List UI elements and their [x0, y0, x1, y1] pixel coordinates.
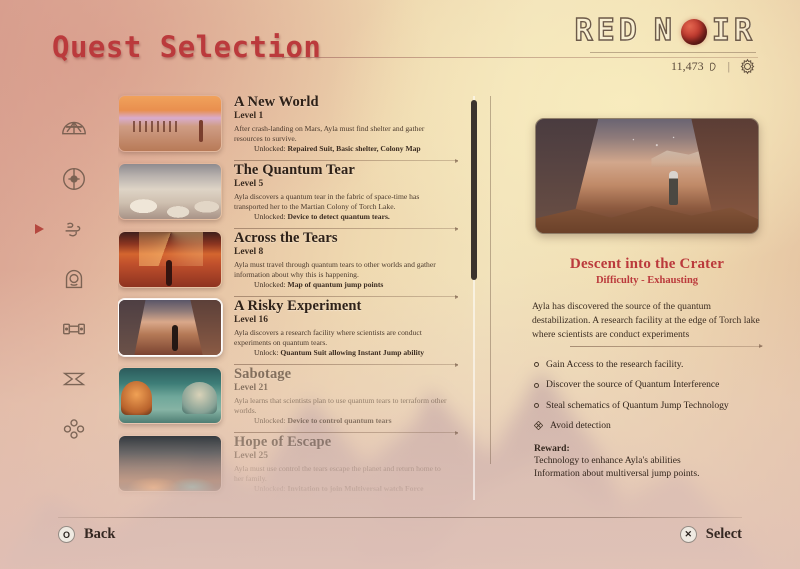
quest-level: Level 25 — [234, 451, 452, 461]
quest-unlock: Unlocked: Invitation to join Multiversal… — [234, 484, 452, 493]
quest-description: Ayla must travel through quantum tears t… — [234, 260, 452, 279]
objective-text: Gain Access to the research facility. — [546, 359, 683, 371]
quest-preview-image — [535, 118, 759, 234]
quest-unlock-label: Unlocked: — [254, 144, 286, 153]
quest-list-item[interactable]: Across the Tears Level 8 Ayla must trave… — [118, 228, 458, 296]
quest-level: Level 16 — [234, 315, 452, 325]
quest-unlock: Unlock: Quantum Suit allowing Instant Ju… — [234, 348, 452, 357]
game-logo: RED N IR — [575, 16, 756, 46]
detail-description: Ayla has discovered the source of the qu… — [520, 300, 774, 342]
quest-title: Hope of Escape — [234, 435, 452, 450]
select-button-label: Select — [706, 526, 742, 543]
quest-description: Ayla discovers a quantum tear in the fab… — [234, 192, 452, 211]
sidebar-item-hourglass[interactable] — [45, 354, 103, 404]
quest-unlock: Unlocked: Device to control quantum tear… — [234, 416, 452, 425]
quest-title: The Quantum Tear — [234, 163, 452, 178]
quest-title: Sabotage — [234, 367, 452, 382]
hud-separator: | — [728, 59, 730, 74]
sidebar-item-cluster[interactable] — [45, 404, 103, 454]
quest-unlock-value: Map of quantum jump points — [288, 280, 384, 289]
page-title: Quest Selection — [52, 30, 321, 64]
flower-bullet-icon — [534, 421, 543, 430]
objective-item: Avoid detection — [534, 420, 768, 432]
sidebar-item-compass[interactable] — [45, 154, 103, 204]
detail-divider — [570, 346, 762, 347]
quest-list-item[interactable]: Sabotage Level 21 Ayla learns that scien… — [118, 364, 458, 432]
ring-bullet-icon — [534, 362, 539, 367]
reward-line: Technology to enhance Ayla's abilities — [534, 454, 774, 468]
quest-level: Level 21 — [234, 383, 452, 393]
dome-icon — [60, 115, 88, 143]
detail-difficulty: Difficulty - Exhausting — [520, 275, 774, 286]
quest-unlock-value: Quantum Suit allowing Instant Jump abili… — [280, 348, 424, 357]
quest-unlock-label: Unlocked: — [254, 484, 286, 493]
logo-text-red: RED — [575, 16, 641, 46]
quest-description: Ayla must use control the tears escape t… — [234, 464, 452, 483]
quest-thumbnail[interactable] — [118, 299, 222, 356]
circle-button-icon: O — [58, 526, 75, 543]
quest-list-item[interactable]: Hope of Escape Level 25 Ayla must use co… — [118, 432, 458, 500]
cross-button-icon: ✕ — [680, 526, 697, 543]
quest-level: Level 5 — [234, 179, 452, 189]
quest-unlock-value: Repaired Suit, Basic shelter, Colony Map — [288, 144, 421, 153]
hourglass-icon — [60, 365, 88, 393]
logo-divider — [590, 52, 756, 53]
select-button[interactable]: ✕ Select — [680, 526, 742, 543]
logo-text-n: N — [654, 16, 676, 46]
wind-icon — [60, 215, 88, 243]
ring-bullet-icon — [534, 383, 539, 388]
quest-level: Level 8 — [234, 247, 452, 257]
objective-text: Avoid detection — [550, 420, 611, 432]
quest-detail-panel: Descent into the Crater Difficulty - Exh… — [520, 96, 774, 481]
module-icon — [60, 315, 88, 343]
panel-divider — [490, 96, 491, 464]
quest-list-item[interactable]: A New World Level 1 After crash-landing … — [118, 92, 458, 160]
sidebar-item-wind[interactable] — [45, 204, 103, 254]
quest-thumbnail[interactable] — [118, 367, 222, 424]
quest-list-item-selected[interactable]: A Risky Experiment Level 16 Ayla discove… — [118, 296, 458, 364]
quest-unlock: Unlocked: Repaired Suit, Basic shelter, … — [234, 144, 452, 153]
sidebar-item-module[interactable] — [45, 304, 103, 354]
quest-title: A New World — [234, 95, 452, 110]
objective-text: Steal schematics of Quantum Jump Technol… — [546, 400, 729, 412]
quest-unlock-label: Unlocked: — [254, 416, 286, 425]
quest-level: Level 1 — [234, 111, 452, 121]
detail-title: Descent into the Crater — [520, 256, 774, 273]
quest-list-item[interactable]: The Quantum Tear Level 5 Ayla discovers … — [118, 160, 458, 228]
quest-unlock-label: Unlock: — [254, 348, 278, 357]
reward-label: Reward: — [534, 443, 774, 454]
quest-unlock: Unlocked: Device to detect quantum tears… — [234, 212, 452, 221]
scrollbar-thumb[interactable] — [471, 100, 477, 280]
ring-bullet-icon — [534, 403, 539, 408]
quest-unlock-value: Device to control quantum tears — [288, 416, 392, 425]
capsule-icon — [60, 265, 88, 293]
back-button[interactable]: O Back — [58, 526, 115, 543]
planet-orb-icon — [681, 19, 707, 45]
compass-icon — [60, 165, 88, 193]
rail-active-marker — [35, 224, 44, 234]
currency-display: 11,473 — [671, 59, 719, 74]
logo-text-ir: IR — [712, 16, 756, 46]
quest-unlock-value: Device to detect quantum tears. — [288, 212, 390, 221]
coin-icon — [707, 60, 719, 74]
footer-divider — [58, 517, 742, 518]
quest-list[interactable]: A New World Level 1 After crash-landing … — [118, 92, 458, 500]
quest-unlock-label: Unlocked: — [254, 280, 286, 289]
quest-description: Ayla learns that scientists plan to use … — [234, 396, 452, 415]
sidebar-item-capsule[interactable] — [45, 254, 103, 304]
quest-list-scrollbar[interactable] — [473, 96, 475, 500]
objective-item: Gain Access to the research facility. — [534, 359, 768, 371]
objectives-list: Gain Access to the research facility. Di… — [520, 359, 774, 433]
objective-item: Steal schematics of Quantum Jump Technol… — [534, 400, 768, 412]
quest-unlock: Unlocked: Map of quantum jump points — [234, 280, 452, 289]
header: Quest Selection RED N IR 11,473 | — [0, 0, 800, 92]
quest-thumbnail[interactable] — [118, 95, 222, 152]
quest-description: After crash-landing on Mars, Ayla must f… — [234, 124, 452, 143]
quest-title: A Risky Experiment — [234, 299, 452, 314]
quest-title: Across the Tears — [234, 231, 452, 246]
sidebar-rail — [45, 104, 103, 454]
currency-value: 11,473 — [671, 59, 704, 74]
quest-unlock-value: Invitation to join Multiversal watch For… — [288, 484, 424, 493]
reward-line: Information about multiversal jump point… — [534, 467, 774, 481]
sidebar-item-dome[interactable] — [45, 104, 103, 154]
quest-unlock-label: Unlocked: — [254, 212, 286, 221]
objective-item: Discover the source of Quantum Interfere… — [534, 379, 768, 391]
quest-thumbnail[interactable] — [118, 435, 222, 492]
back-button-label: Back — [84, 526, 115, 543]
objective-text: Discover the source of Quantum Interfere… — [546, 379, 719, 391]
cluster-icon — [60, 415, 88, 443]
hud-bar: 11,473 | — [671, 58, 756, 75]
quest-thumbnail[interactable] — [118, 231, 222, 288]
quest-description: Ayla discovers a research facility where… — [234, 328, 452, 347]
gear-icon[interactable] — [739, 58, 756, 75]
quest-thumbnail[interactable] — [118, 163, 222, 220]
